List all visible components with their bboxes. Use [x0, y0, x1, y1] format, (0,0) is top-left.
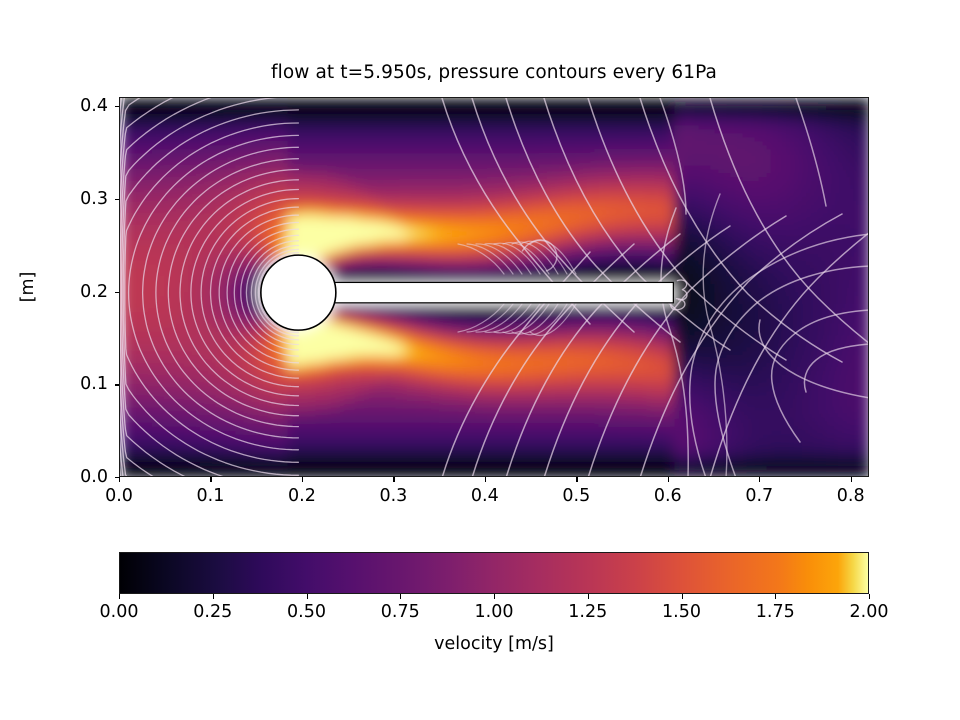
colorbar-label: velocity [m/s]	[119, 634, 869, 654]
colorbar-tick-label: 1.25	[568, 602, 607, 622]
x-tick-mark	[576, 477, 577, 482]
colorbar-tick-mark	[400, 594, 401, 599]
splitter-plate	[303, 282, 673, 302]
flow-field-svg	[120, 98, 869, 477]
colorbar-tick-mark	[869, 594, 870, 599]
colorbar-tick-mark	[682, 594, 683, 599]
x-tick-label: 0.2	[288, 486, 316, 506]
colorbar-tick-label: 1.00	[475, 602, 514, 622]
colorbar-tick-mark	[213, 594, 214, 599]
y-tick-mark	[115, 477, 120, 478]
colorbar-tick-label: 0.75	[381, 602, 420, 622]
x-tick-mark	[210, 477, 211, 482]
x-tick-mark	[851, 477, 852, 482]
x-tick-mark	[759, 477, 760, 482]
y-tick-label: 0.0	[58, 467, 108, 487]
matplotlib-figure: flow at t=5.950s, pressure contours ever…	[0, 0, 960, 720]
x-tick-mark	[119, 477, 120, 482]
y-tick-label: 0.1	[58, 374, 108, 394]
flow-field-plot	[119, 97, 869, 477]
colorbar-tick-label: 0.50	[287, 602, 326, 622]
colorbar-tick-mark	[119, 594, 120, 599]
plate-cylinder-junction	[301, 283, 325, 301]
colorbar-tick-label: 1.75	[756, 602, 795, 622]
colorbar-tick-label: 0.00	[100, 602, 139, 622]
colorbar-gradient	[120, 553, 868, 593]
y-tick-label: 0.4	[58, 96, 108, 116]
colorbar-tick-label: 1.50	[662, 602, 701, 622]
x-tick-mark	[302, 477, 303, 482]
page-title: flow at t=5.950s, pressure contours ever…	[119, 62, 869, 83]
x-tick-label: 0.6	[654, 486, 682, 506]
x-tick-label: 0.0	[105, 486, 133, 506]
y-tick-label: 0.2	[58, 282, 108, 302]
colorbar-tick-label: 2.00	[850, 602, 889, 622]
colorbar	[119, 552, 869, 594]
y-axis-label: [m]	[18, 272, 38, 303]
x-tick-label: 0.7	[745, 486, 773, 506]
x-tick-mark	[668, 477, 669, 482]
colorbar-tick-mark	[494, 594, 495, 599]
x-tick-label: 0.8	[837, 486, 865, 506]
x-tick-label: 0.5	[562, 486, 590, 506]
x-tick-label: 0.4	[471, 486, 499, 506]
colorbar-tick-mark	[588, 594, 589, 599]
colorbar-tick-mark	[775, 594, 776, 599]
y-tick-label: 0.3	[58, 189, 108, 209]
x-tick-mark	[393, 477, 394, 482]
colorbar-tick-label: 0.25	[193, 602, 232, 622]
colorbar-tick-mark	[307, 594, 308, 599]
x-tick-label: 0.3	[379, 486, 407, 506]
x-tick-label: 0.1	[197, 486, 225, 506]
x-tick-mark	[485, 477, 486, 482]
